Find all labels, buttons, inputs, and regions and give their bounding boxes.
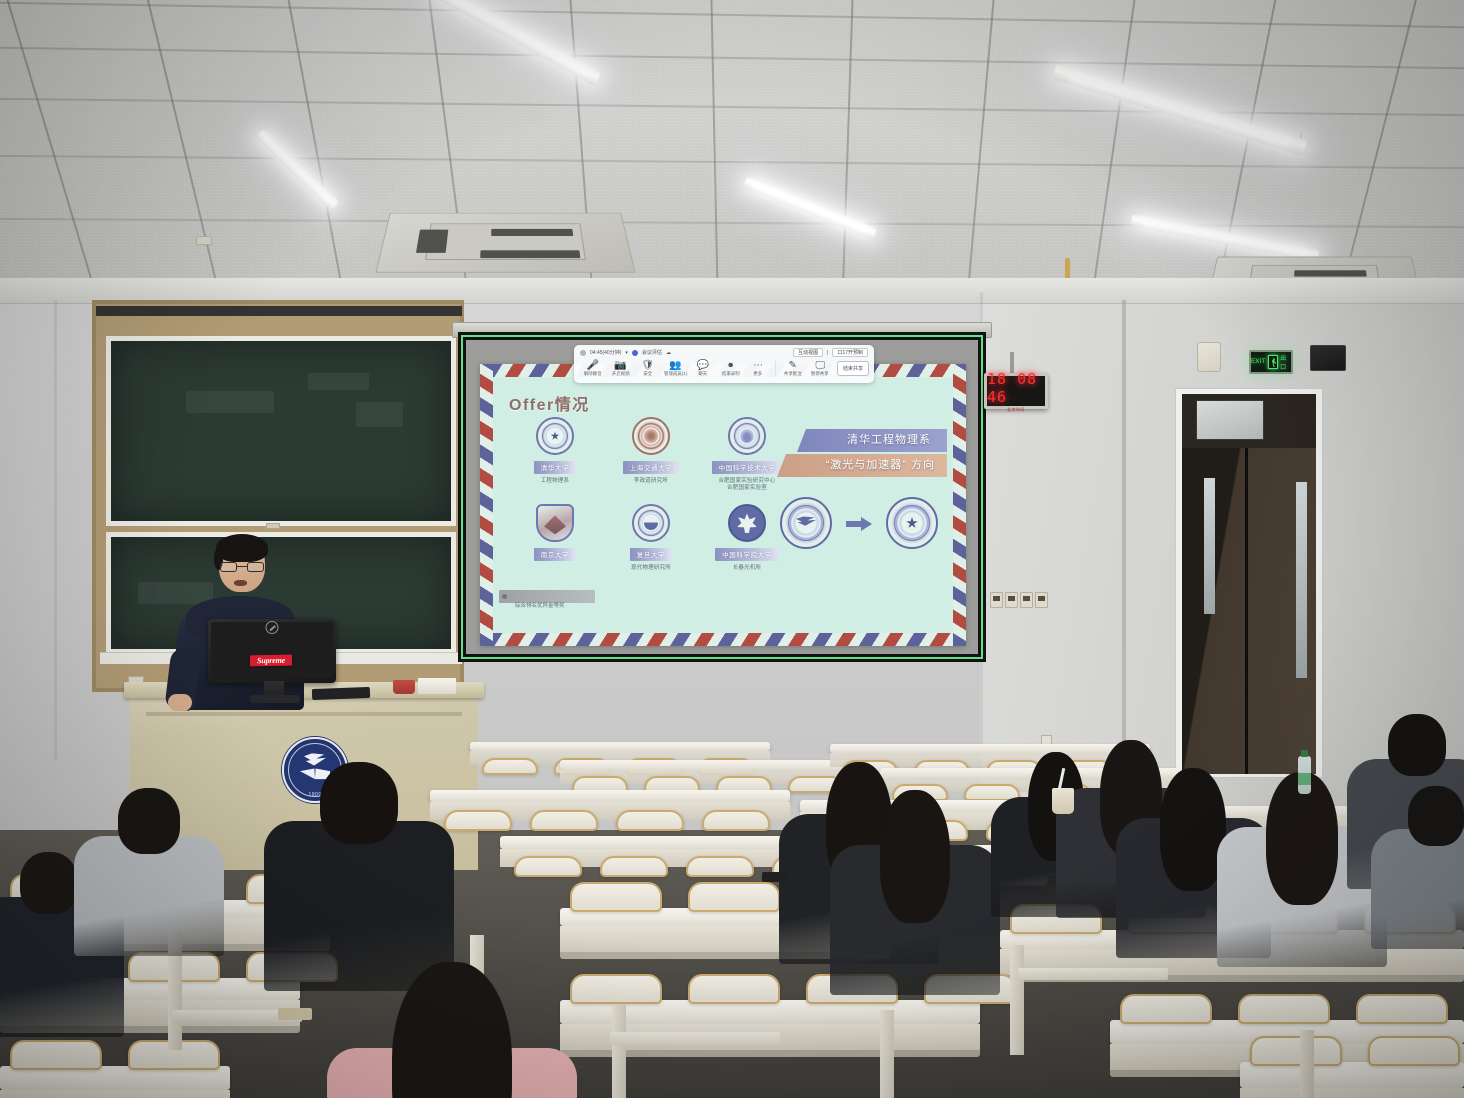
- ceiling-grid-line: [1313, 0, 1459, 300]
- ac-vent: [416, 230, 449, 253]
- screen-icon: 🖵: [806, 360, 834, 371]
- keyboard: [312, 687, 370, 700]
- ucas-crest-icon: [728, 504, 766, 542]
- wall-outlet-icon: [990, 592, 1003, 608]
- ceiling-grid-line: [0, 90, 1464, 124]
- presenter-monitor: [208, 619, 336, 683]
- offer-university-dept: 合肥国家实验研究中心 合肥国家实验室: [699, 478, 795, 493]
- door-glass-panel: [1204, 478, 1215, 614]
- meeting-eval-label: 会议评估: [642, 349, 662, 356]
- ceiling-grid-line: [707, 0, 721, 300]
- ac-cassette-unit: [375, 213, 635, 273]
- desk-leg: [1300, 1030, 1314, 1098]
- origin-university-crest-icon: [780, 497, 832, 549]
- ceiling: [0, 0, 1464, 300]
- running-man-icon: [1268, 355, 1279, 369]
- seat-back[interactable]: [482, 758, 538, 775]
- meeting-control-label: 聊天: [690, 371, 716, 377]
- offer-card: 南京大学: [507, 504, 603, 572]
- exit-right-label: 出口: [1280, 353, 1291, 371]
- door-transom-glass: [1196, 400, 1264, 440]
- offer-university-dept: 李政道研究所: [603, 478, 699, 485]
- ustc-crest-icon: [728, 417, 766, 455]
- offer-university-name: 清华大学: [534, 461, 576, 474]
- meeting-view-controls: 互动视图 | 口17开预制: [793, 348, 868, 357]
- meeting-control-label: 共享批注: [780, 371, 806, 377]
- seat-back[interactable]: [1120, 994, 1212, 1024]
- destination-department-ribbon: 清华工程物理系: [797, 429, 947, 452]
- glasses-icon: [220, 562, 264, 572]
- meeting-control-people[interactable]: 👥管理成员(1): [662, 360, 690, 377]
- dell-logo-icon: [266, 621, 279, 634]
- person-hair: [20, 852, 78, 914]
- seat-back[interactable]: [600, 856, 668, 877]
- envelope-border-bottom: [480, 633, 966, 646]
- redacted-bar: [499, 590, 595, 603]
- slide-content-area: Offer情况 清华大学 工程物理系: [493, 377, 953, 633]
- destination-direction-ribbon: “激光与加速器” 方向: [777, 454, 947, 477]
- presenter-hair: [216, 534, 268, 562]
- offer-university-dept: 现代物理研究所: [603, 565, 699, 572]
- ceiling-grid-line: [1432, 0, 1464, 300]
- meeting-control-more[interactable]: ⋯更多: [744, 360, 772, 377]
- person-torso: [1371, 829, 1464, 949]
- shield-icon: 🛡: [634, 360, 662, 371]
- ac-vent: [1294, 270, 1367, 276]
- emergency-exit-sign: EXIT 出口: [1249, 350, 1293, 374]
- meeting-control-label: 解除静音: [580, 371, 606, 377]
- seat-back[interactable]: [688, 882, 780, 912]
- wall-seam: [54, 300, 57, 760]
- seat-back[interactable]: [688, 974, 780, 1004]
- sprinkler-icon: [1065, 258, 1070, 280]
- sjtu-crest-icon: [632, 417, 670, 455]
- offer-row-2: 南京大学 复旦大学 现代物理研究所: [507, 504, 797, 572]
- desk-leg: [612, 1005, 626, 1098]
- wall-outlet-icon: [1035, 592, 1048, 608]
- offer-card: 清华大学 工程物理系: [507, 417, 603, 492]
- seat-back[interactable]: [514, 856, 582, 877]
- presenter-hand: [168, 694, 192, 711]
- blackboard-rail: [96, 306, 462, 316]
- podium-trim: [146, 712, 462, 716]
- chalk-smudge: [186, 391, 274, 413]
- end-share-button[interactable]: 结束共享: [837, 361, 869, 376]
- supreme-sticker: Supreme: [250, 655, 292, 667]
- person-hair: [1408, 786, 1464, 846]
- door-glass-panel: [1296, 482, 1307, 678]
- seat-back[interactable]: [1238, 994, 1330, 1024]
- ceiling-grid-line: [956, 0, 1009, 300]
- meeting-control-bar[interactable]: 04:45(40分钟) ▾ 会议评估 ☁ 互动视图 | 口17开预制 🎤解除静音…: [574, 345, 874, 383]
- blackboard-eraser: [266, 523, 280, 529]
- offer-university-dept: 长春光机所: [699, 565, 795, 572]
- seat-back[interactable]: [686, 856, 754, 877]
- meeting-control-label: 安全: [635, 371, 661, 377]
- seat-back[interactable]: [1250, 1036, 1342, 1066]
- person-hair: [1388, 714, 1446, 776]
- desk-shelf: [1018, 968, 1168, 980]
- cloud-icon: ☁: [666, 350, 671, 356]
- meeting-control-label: 管理成员(1): [662, 371, 688, 377]
- desk-front: [0, 1090, 230, 1098]
- phone-on-desk: [762, 872, 788, 882]
- wall-outlet-strip: [990, 592, 1048, 608]
- presenter-mouth: [234, 580, 247, 586]
- water-bottle: [1298, 756, 1311, 794]
- meeting-control-label: 更多: [745, 371, 771, 377]
- meeting-control-screen[interactable]: 🖵暂停共享: [806, 360, 834, 377]
- meeting-control-chat[interactable]: 💬聊天: [689, 360, 717, 377]
- info-icon: [632, 350, 638, 356]
- meeting-control-shield[interactable]: 🛡安全: [634, 360, 662, 377]
- chalk-smudge: [356, 402, 404, 427]
- meeting-control-label: 暂停共享: [807, 371, 833, 377]
- destination-university-crest-icon: [886, 497, 938, 549]
- desk-shelf: [610, 1032, 780, 1045]
- meeting-control-label: 结束录制: [718, 371, 744, 377]
- seat-back[interactable]: [570, 974, 662, 1004]
- ceiling-grid-line: [0, 37, 1464, 79]
- wall-seam: [1122, 300, 1126, 770]
- meeting-control-annotate[interactable]: ✎共享批注: [779, 360, 807, 377]
- desk-front: [1240, 1088, 1464, 1098]
- monitor-stand-base: [250, 695, 300, 703]
- projected-display: Offer情况 清华大学 工程物理系: [466, 340, 978, 654]
- fudan-crest-icon: [632, 504, 670, 542]
- offer-row-1: 清华大学 工程物理系 上海交通大学 李政道研究所: [507, 417, 797, 492]
- toolbar-separator: [775, 359, 776, 377]
- offer-university-name: 上海交通大学: [623, 461, 680, 474]
- seat-back[interactable]: [570, 882, 662, 912]
- person-hair: [118, 788, 180, 854]
- meeting-control-record[interactable]: ⏺结束录制: [717, 360, 745, 377]
- view-mode-select[interactable]: 互动视图: [793, 348, 823, 357]
- destination-panel: 清华工程物理系 “激光与加速器” 方向: [771, 429, 947, 477]
- tsinghua-crest-icon: [536, 417, 574, 455]
- slide-title: Offer情况: [509, 391, 590, 415]
- supreme-sticker-text: Supreme: [257, 656, 285, 665]
- people-icon: 👥: [662, 360, 690, 371]
- desk-top: [430, 790, 790, 802]
- exit-left-label: EXIT: [1251, 359, 1266, 365]
- envelope-border-right: [953, 364, 966, 646]
- smoke-detector-icon: [196, 236, 212, 245]
- seat-back[interactable]: [1356, 994, 1448, 1024]
- microphone-icon: 🎤: [579, 360, 607, 371]
- nju-crest-icon: [536, 504, 574, 542]
- offer-university-name: 中国科学院大学: [715, 548, 779, 561]
- chalk-smudge: [308, 373, 369, 389]
- desk-mug: [393, 680, 415, 694]
- desk-top: [830, 744, 1150, 753]
- chevron-down-icon[interactable]: ▾: [625, 350, 628, 356]
- blackboard-upper-panel: [106, 336, 456, 526]
- drink-cup: [1052, 788, 1074, 814]
- door-gap: [1245, 448, 1248, 774]
- led-wall-clock: 18 08 46 北京时间: [984, 373, 1048, 409]
- envelope-border-left: [480, 364, 493, 646]
- seat-back[interactable]: [10, 1040, 102, 1070]
- camera-icon: 📷: [607, 360, 635, 371]
- clock-time-display: 18 08 46: [987, 370, 1045, 406]
- offer-university-name: 南京大学: [534, 548, 576, 561]
- ceiling-grid-line: [838, 0, 859, 300]
- ceiling-grid-line: [1075, 0, 1159, 300]
- meeting-control-microphone[interactable]: 🎤解除静音: [579, 360, 607, 377]
- origin-to-destination-row: [775, 497, 943, 549]
- layout-button[interactable]: 口17开预制: [832, 348, 868, 357]
- ceiling-grid-line: [0, 0, 7, 300]
- classroom-photo-scene: Offer情况 清华大学 工程物理系: [0, 0, 1464, 1098]
- meeting-control-camera[interactable]: 📷开启视频: [607, 360, 635, 377]
- ac-vent: [491, 229, 573, 237]
- meeting-timer: 04:45(40分钟): [590, 349, 621, 356]
- record-icon: ⏺: [717, 360, 745, 371]
- offer-card: 复旦大学 现代物理研究所: [603, 504, 699, 572]
- signal-icon: [580, 350, 586, 356]
- desk-leg: [880, 1010, 894, 1098]
- paper-stack: [418, 678, 456, 694]
- ceiling-grid-line: [107, 0, 247, 300]
- wall-outlet-icon: [1005, 592, 1018, 608]
- meeting-toolbar-icons: 🎤解除静音📷开启视频🛡安全👥管理成员(1)💬聊天⏺结束录制⋯更多✎共享批注🖵暂停…: [574, 358, 874, 379]
- seat-back[interactable]: [1368, 1036, 1460, 1066]
- ac-vent: [480, 250, 581, 258]
- wall-speaker-icon: [1310, 345, 1346, 371]
- separator-icon: |: [827, 350, 828, 356]
- offer-university-grid: 清华大学 工程物理系 上海交通大学 李政道研究所: [507, 417, 797, 572]
- desk-leg: [1010, 945, 1024, 1055]
- redacted-caption: 综合排名优异金等奖: [515, 603, 565, 610]
- wall-mounted-box: [1197, 342, 1221, 372]
- wall-outlet-icon: [1020, 592, 1033, 608]
- more-icon: ⋯: [744, 360, 772, 371]
- person-hair: [880, 790, 950, 923]
- meeting-status-row: 04:45(40分钟) ▾ 会议评估 ☁ 互动视图 | 口17开预制: [574, 345, 874, 358]
- annotate-icon: ✎: [779, 360, 807, 371]
- ceiling-grid-line: [0, 0, 1464, 40]
- item-on-desk: [278, 1008, 312, 1020]
- seat-back[interactable]: [530, 810, 598, 831]
- ceiling-grid-line: [0, 0, 127, 300]
- arrow-right-icon: [846, 517, 872, 530]
- chat-icon: 💬: [689, 360, 717, 371]
- clock-caption: 北京时间: [1007, 407, 1025, 413]
- person-torso: [264, 821, 454, 991]
- presentation-slide: Offer情况 清华大学 工程物理系: [480, 364, 966, 646]
- person-hair: [320, 762, 398, 844]
- meeting-control-label: 开启视频: [607, 371, 633, 377]
- desk-top: [470, 742, 770, 751]
- offer-card: 上海交通大学 李政道研究所: [603, 417, 699, 492]
- ceiling-grid: [0, 0, 1464, 300]
- offer-university-dept: 工程物理系: [507, 478, 603, 485]
- ceiling-grid-line: [0, 214, 1464, 232]
- seat-back[interactable]: [702, 810, 770, 831]
- seat-back[interactable]: [444, 810, 512, 831]
- seat-back[interactable]: [616, 810, 684, 831]
- offer-university-name: 复旦大学: [630, 548, 672, 561]
